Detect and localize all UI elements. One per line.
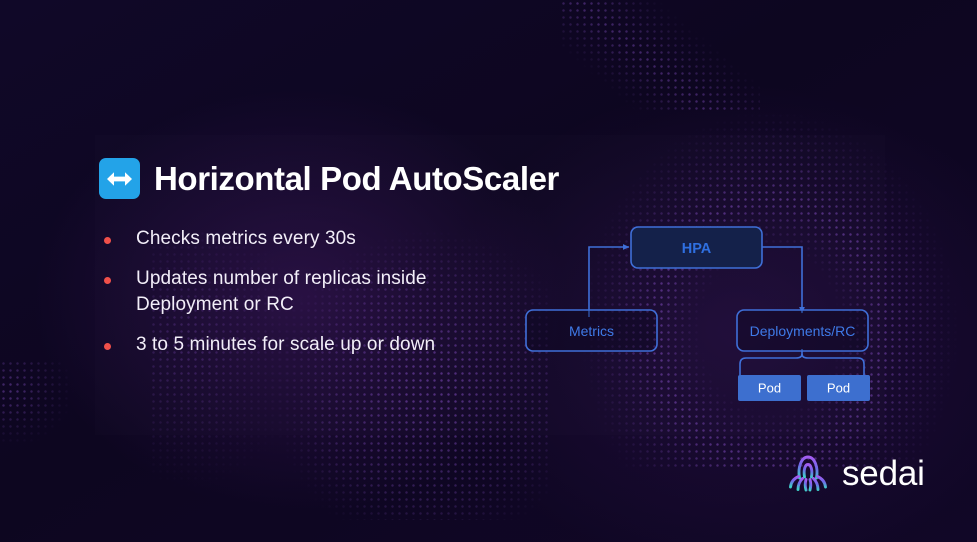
deployments-node-label: Deployments/RC xyxy=(750,323,856,339)
sedai-logo: sedai xyxy=(785,447,925,500)
metrics-node-label: Metrics xyxy=(569,323,614,339)
halftone-dots-top-right xyxy=(560,0,760,110)
list-item: 3 to 5 minutes for scale up or down xyxy=(104,332,504,357)
slide-canvas: Horizontal Pod AutoScaler Checks metrics… xyxy=(0,0,977,542)
diagram-node-deployments[interactable]: Deployments/RC xyxy=(737,310,868,351)
bullet-list: Checks metrics every 30s Updates number … xyxy=(104,226,504,372)
bullet-dot-icon xyxy=(104,277,111,284)
bullet-dot-icon xyxy=(104,343,111,350)
pods-bracket xyxy=(740,354,864,375)
bullet-text: 3 to 5 minutes for scale up or down xyxy=(136,332,435,357)
slide-title-row: Horizontal Pod AutoScaler xyxy=(99,158,559,199)
diagram-node-pod-2[interactable]: Pod xyxy=(807,375,870,401)
diagram-node-pod-1[interactable]: Pod xyxy=(738,375,801,401)
halftone-dots-bottom-left xyxy=(0,360,120,480)
hpa-node-label: HPA xyxy=(682,241,712,257)
list-item: Updates number of replicas inside Deploy… xyxy=(104,266,504,317)
bullet-text: Checks metrics every 30s xyxy=(136,226,356,251)
edge-hpa-to-deployments xyxy=(762,247,802,313)
hpa-flow-diagram: HPA Metrics Deployments/RC Pod Pod xyxy=(510,212,900,407)
horizontal-arrows-icon xyxy=(99,158,140,199)
bullet-text: Updates number of replicas inside Deploy… xyxy=(136,266,504,317)
diagram-node-hpa[interactable]: HPA xyxy=(631,227,762,268)
sedai-octopus-icon xyxy=(785,447,831,500)
pod-1-label: Pod xyxy=(758,381,781,396)
page-title: Horizontal Pod AutoScaler xyxy=(154,160,559,198)
edge-metrics-to-hpa xyxy=(589,247,629,317)
sedai-wordmark: sedai xyxy=(842,456,925,491)
pod-2-label: Pod xyxy=(827,381,850,396)
list-item: Checks metrics every 30s xyxy=(104,226,504,251)
diagram-node-metrics[interactable]: Metrics xyxy=(526,310,657,351)
bullet-dot-icon xyxy=(104,237,111,244)
